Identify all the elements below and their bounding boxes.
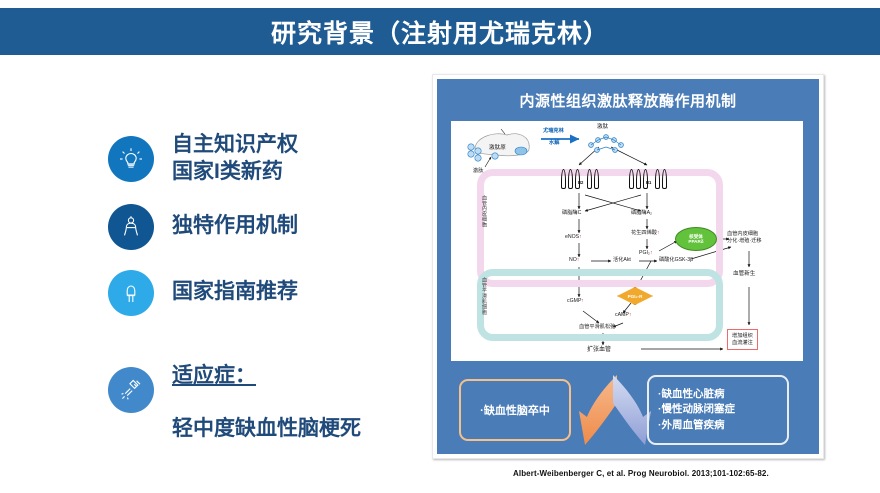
ppar-label: PPARδ	[688, 239, 703, 244]
mechanism-diagram: 血管内皮细胞 血管平滑肌细胞 B2 B1 激肽原 激肽 尤瑞克林 水解 激肽 磷…	[451, 121, 803, 361]
bullet-label-ip: 自主知识产权 国家I类新药	[172, 132, 298, 186]
drug-label: 尤瑞克林	[543, 129, 564, 135]
other-indications-box[interactable]: ·缺血性心脏病 ·慢性动脉闭塞症 ·外周血管疾病	[647, 375, 789, 445]
vial-icon	[108, 270, 154, 316]
endothelial-proliferation-label: 血管内皮细胞 分化·增殖·迁移	[727, 231, 762, 245]
nuclear-receptor-node: 核受体 PPARδ	[675, 227, 717, 251]
other-indication-item: ·慢性动脉闭塞症	[658, 402, 787, 417]
stroke-indication-box[interactable]: ·缺血性脑卒中	[459, 379, 571, 441]
bullet-item-mechanism[interactable]: 独特作用机制	[108, 204, 438, 250]
mechanism-figure-frame: 内源性组织激肽释放酶作用机制	[432, 74, 824, 459]
receptor-b1: B1	[629, 167, 671, 189]
feature-bullet-list: 自主知识产权 国家I类新药 独特作用机制 国家指南推荐	[108, 132, 438, 459]
lightbulb-icon	[108, 136, 154, 182]
kininogen-label: 激肽原	[489, 145, 506, 151]
bullet-item-guideline[interactable]: 国家指南推荐	[108, 270, 438, 316]
bullet-item-ip[interactable]: 自主知识产权 国家I类新药	[108, 132, 438, 186]
kinin-small-label: 激肽	[473, 169, 483, 175]
bullet-item-indication[interactable]: 适应症： 轻中度缺血性脑梗死	[108, 336, 438, 444]
arachidonic-label: 花生四烯酸↑	[631, 231, 660, 237]
pgi2r-label: PGI₂-R	[628, 294, 643, 299]
other-indication-item: ·外周血管疾病	[658, 418, 787, 433]
gsk-label: 磷酸化GSK-3β	[659, 258, 693, 264]
bullet-label-indication: 适应症： 轻中度缺血性脑梗死	[172, 336, 361, 444]
slide-title-bar: 研究背景（注射用尤瑞克林）	[0, 8, 880, 55]
pla2-label: 磷脂酶A₂	[631, 211, 652, 217]
other-indication-item: ·缺血性心脏病	[658, 387, 787, 402]
pgi2-label: PGI₂↑	[639, 251, 653, 257]
indication-value: 轻中度缺血性脑梗死	[172, 417, 361, 440]
indication-prefix: 适应症：	[172, 363, 256, 390]
bullet-label-mechanism: 独特作用机制	[172, 213, 298, 240]
mechanism-panel: 内源性组织激肽释放酶作用机制	[437, 79, 819, 454]
smooth-muscle-label: 血管平滑肌细胞	[481, 277, 488, 315]
receptor-b2-label: B2	[578, 180, 583, 185]
indication-area: ·缺血性脑卒中 ·缺血性心脏病 ·慢性动脉闭塞症 ·外周血管疾病	[451, 371, 803, 449]
angiogenesis-label: 血管新生	[733, 271, 755, 277]
endothelial-cell-label: 血管内皮细胞	[481, 195, 488, 227]
akt-label: 活化Akt	[613, 258, 631, 264]
molecule-mechanism-icon	[108, 204, 154, 250]
smooth-relax-label: 血管平滑肌松弛	[579, 325, 615, 331]
receptor-b2: B2	[561, 167, 603, 189]
camp-label: cAMP↑	[615, 313, 631, 319]
page-title: 研究背景（注射用尤瑞克林）	[271, 14, 609, 50]
bullet-label-guideline: 国家指南推荐	[172, 279, 298, 306]
no-label: NO↑	[569, 258, 579, 264]
plc-label: 磷脂酶C	[562, 211, 581, 217]
hydrolysis-label: 水解	[549, 141, 559, 147]
mechanism-panel-title: 内源性组织激肽释放酶作用机制	[437, 90, 819, 111]
syringe-icon	[108, 367, 154, 413]
enos-label: eNOS↑	[565, 235, 582, 241]
kinin-label: 激肽	[597, 124, 608, 130]
cgmp-label: cGMP↑	[567, 299, 584, 305]
citation-text: Albert-Weibenberger C, et al. Prog Neuro…	[513, 469, 769, 478]
receptor-b1-label: B1	[646, 180, 651, 185]
perfusion-box: 增加组织 血流灌注	[727, 329, 758, 350]
vasodilation-label: 扩张血管	[587, 347, 611, 354]
